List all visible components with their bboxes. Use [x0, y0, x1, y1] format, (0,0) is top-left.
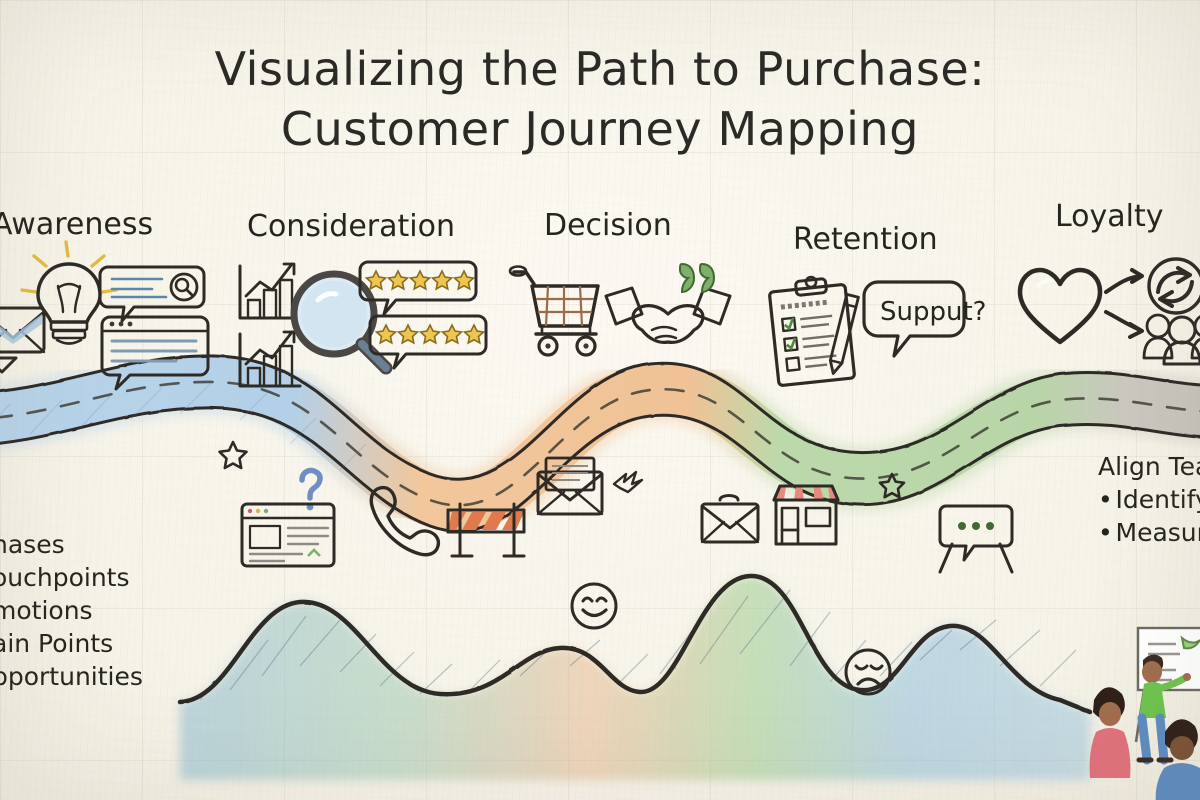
loyalty-icon-group: [1020, 259, 1200, 364]
left-list-item-opportunities: pportunities: [0, 660, 143, 693]
handshake-icon: [606, 288, 730, 342]
stage-label-consideration: Consideration: [247, 209, 455, 244]
right-benefits-list: Align Tea •Identify •Measure: [1098, 450, 1200, 549]
stage-label-awareness: Awareness: [0, 207, 153, 242]
workshop-illustration: [1090, 628, 1200, 800]
retention-icon-group: [769, 277, 964, 386]
left-list-item-phases: hases: [0, 528, 143, 561]
left-list-item-pain-points: ain Points: [0, 627, 143, 660]
decision-icon-group: [510, 264, 730, 355]
bullet-icon: •: [1098, 483, 1116, 516]
star-rating-bubble-green-icon: [370, 316, 486, 368]
consideration-icon-group: [240, 262, 486, 386]
loyalty-arrow-up-icon: [1106, 270, 1142, 292]
spark-icon: [614, 472, 642, 492]
happy-face-icon: [572, 584, 616, 628]
right-list-item-measure-label: Measure: [1116, 518, 1200, 547]
audience-figure-1: [1090, 687, 1131, 778]
right-list-item-identify-label: Identify: [1116, 485, 1200, 514]
right-list-item-identify: •Identify: [1098, 483, 1200, 516]
stage-label-loyalty: Loyalty: [1055, 199, 1164, 234]
red-envelope-icon: [702, 496, 758, 543]
clipboard-checklist-icon: [769, 277, 858, 386]
right-list-item-measure: •Measure: [1098, 516, 1200, 549]
people-group-icon: [1144, 315, 1200, 364]
search-bubble-icon: [100, 267, 204, 321]
journey-map-canvas: Visualizing the Path to Purchase: Custom…: [0, 0, 1200, 800]
shopping-cart-icon: [510, 267, 598, 356]
left-list-item-touchpoints: ouchpoints: [0, 561, 143, 594]
journey-road: [0, 356, 1200, 531]
emotion-curve: [180, 576, 1090, 780]
browser-window-icon: [242, 504, 334, 566]
stage-label-retention: Retention: [793, 222, 938, 257]
star-rating-bubble-orange-icon: [360, 262, 476, 314]
page-title: Visualizing the Path to Purchase: Custom…: [0, 42, 1200, 157]
chat-dots-sign-icon: [940, 506, 1012, 572]
bullet-icon-2: •: [1098, 516, 1116, 549]
envelope-icon: [0, 308, 44, 372]
stage-label-decision: Decision: [544, 208, 672, 243]
quote-marks-icon: [680, 264, 714, 292]
loyalty-arrow-down-icon: [1106, 312, 1142, 337]
gold-star-icon: [220, 442, 247, 468]
title-line-2: Customer Journey Mapping: [0, 102, 1200, 156]
right-list-heading: Align Tea: [1098, 450, 1200, 483]
left-list-item-emotions: motions: [0, 594, 143, 627]
title-line-1: Visualizing the Path to Purchase:: [0, 42, 1200, 96]
share-badge-icon: [1149, 259, 1200, 313]
left-aspect-list: hases ouchpoints motions ain Points ppor…: [0, 528, 143, 693]
heart-icon: [1020, 270, 1100, 342]
support-bubble-text: Supput?: [880, 297, 986, 327]
